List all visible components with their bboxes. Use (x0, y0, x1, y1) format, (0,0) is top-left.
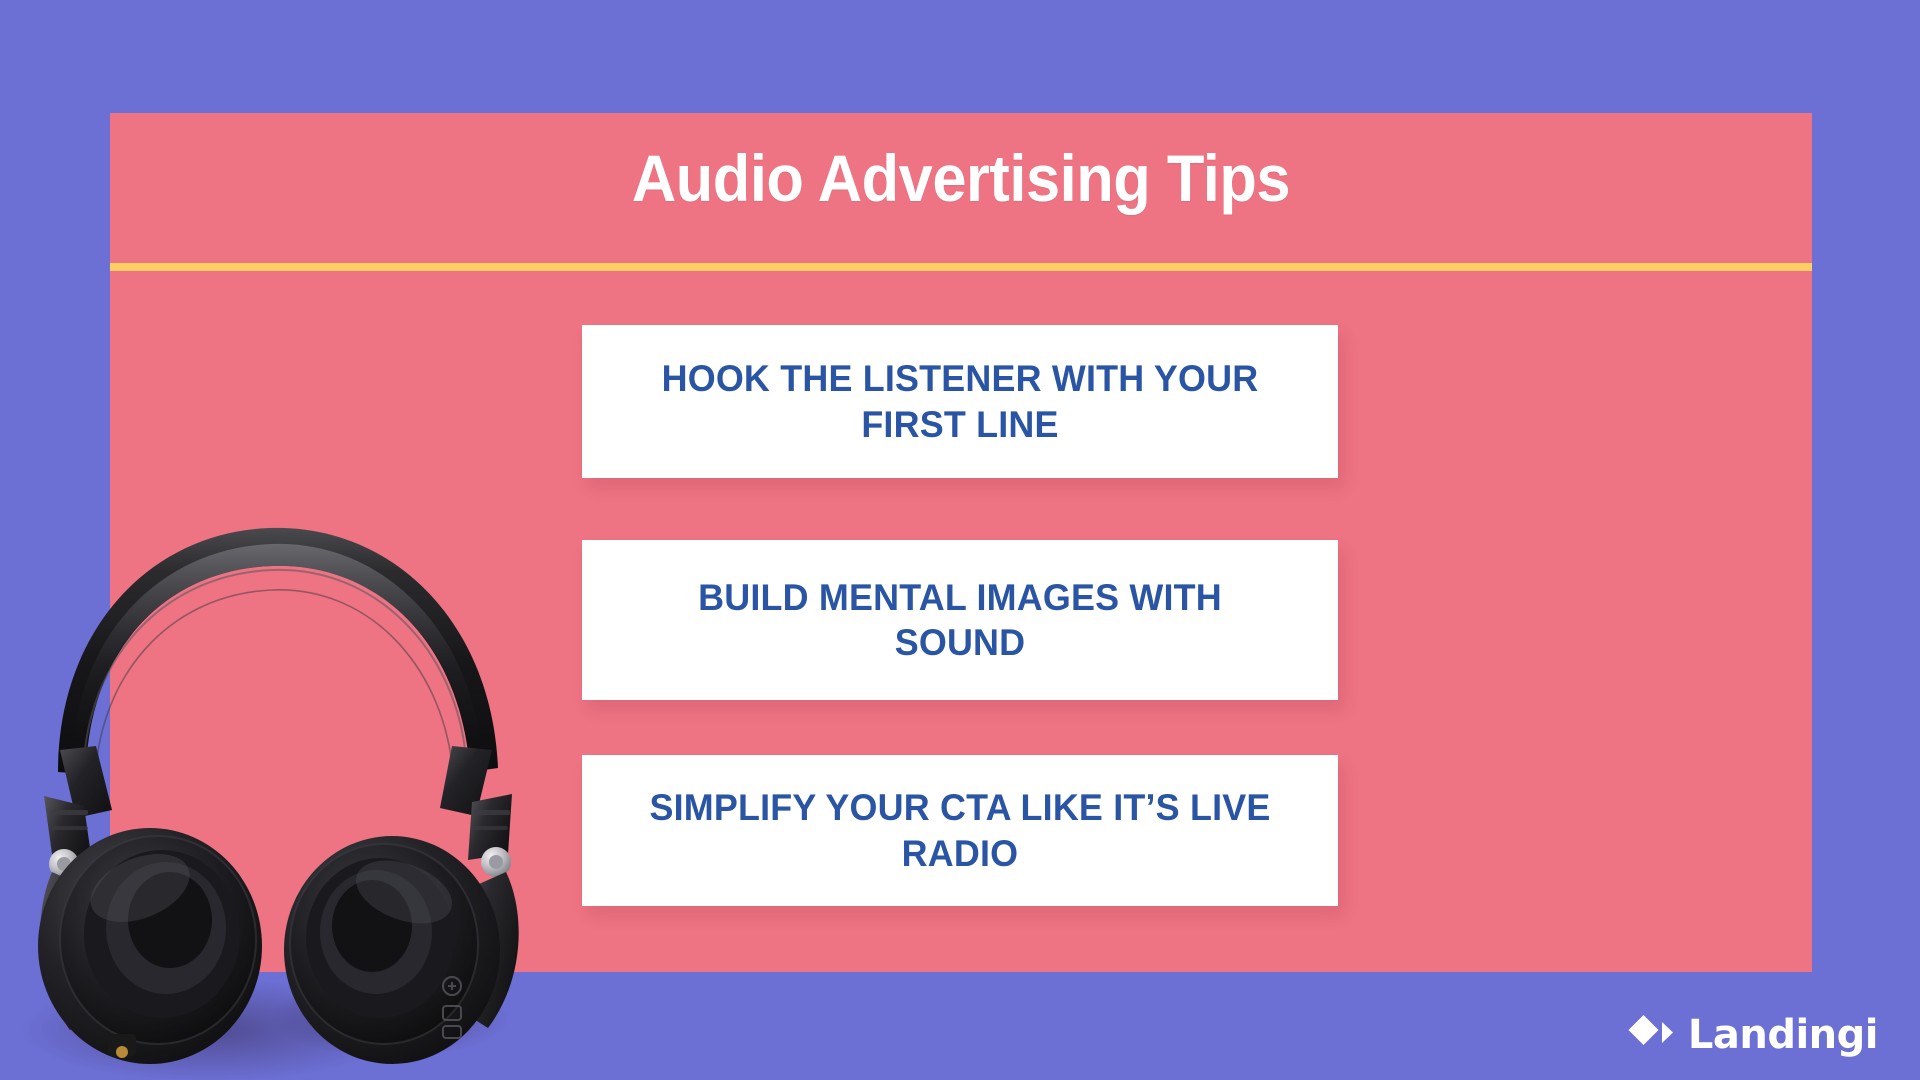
tip-card-3[interactable]: SIMPLIFY YOUR CTA LIKE IT’S LIVE RADIO (582, 755, 1338, 906)
landingi-logo[interactable]: Landingi (1628, 1012, 1878, 1058)
tip-card-1[interactable]: HOOK THE LISTENER WITH YOUR FIRST LINE (582, 325, 1338, 478)
tip-card-2[interactable]: BUILD MENTAL IMAGES WITH SOUND (582, 540, 1338, 700)
slide-canvas: Audio Advertising Tips HOOK THE LISTENER… (0, 0, 1920, 1080)
tip-card-1-label: HOOK THE LISTENER WITH YOUR FIRST LINE (636, 356, 1284, 446)
landingi-diamond-icon (1628, 1012, 1674, 1058)
page-title: Audio Advertising Tips (170, 144, 1753, 213)
landingi-wordmark: Landingi (1688, 1015, 1878, 1055)
tips-list: HOOK THE LISTENER WITH YOUR FIRST LINE B… (582, 325, 1338, 906)
tip-card-2-label: BUILD MENTAL IMAGES WITH SOUND (636, 575, 1284, 665)
content-panel: Audio Advertising Tips HOOK THE LISTENER… (110, 113, 1812, 972)
tip-card-3-label: SIMPLIFY YOUR CTA LIKE IT’S LIVE RADIO (636, 785, 1284, 875)
title-divider (110, 263, 1812, 271)
